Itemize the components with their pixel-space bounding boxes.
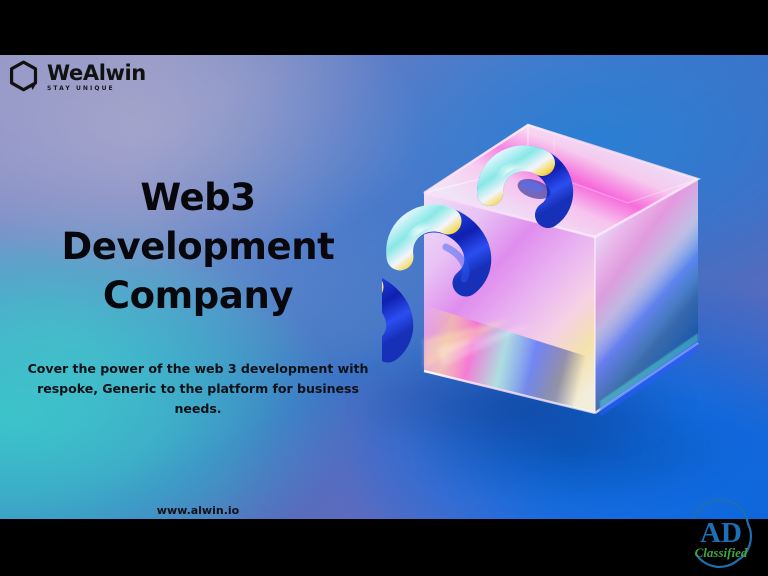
letterbox-bar-bottom [0,519,768,576]
headline-line-1: Web3 Development [62,176,335,268]
page-title: Web3 Development Company [22,173,374,321]
banner-root: WeAlwin STAY UNIQUE Web3 Development Com… [0,0,768,576]
website-url[interactable]: www.alwin.io [0,504,396,517]
headline-line-2: Company [103,274,293,317]
hexagon-outline-icon [8,60,40,94]
ad-classified-badge-icon[interactable]: AD Classified [680,498,762,574]
glass-cube-3d-icon [382,107,722,447]
subheadline-line-1: Cover the power of the web 3 development… [28,361,369,376]
ad-classified-badge-svg: AD Classified [680,498,762,574]
artwork-stage: WeAlwin STAY UNIQUE Web3 Development Com… [0,55,768,519]
logo-brand-name: WeAlwin [47,63,146,84]
copy-block: Web3 Development Company Cover the power… [0,173,396,517]
brand-logo[interactable]: WeAlwin STAY UNIQUE [8,60,146,94]
logo-tagline: STAY UNIQUE [47,86,146,92]
subheadline-line-2: respoke, Generic to the platform for bus… [37,381,359,416]
glass-cube-artwork [382,107,722,447]
watermark-secondary-text: Classified [695,545,748,560]
subheadline: Cover the power of the web 3 development… [18,359,378,420]
letterbox-bar-top [0,0,768,55]
